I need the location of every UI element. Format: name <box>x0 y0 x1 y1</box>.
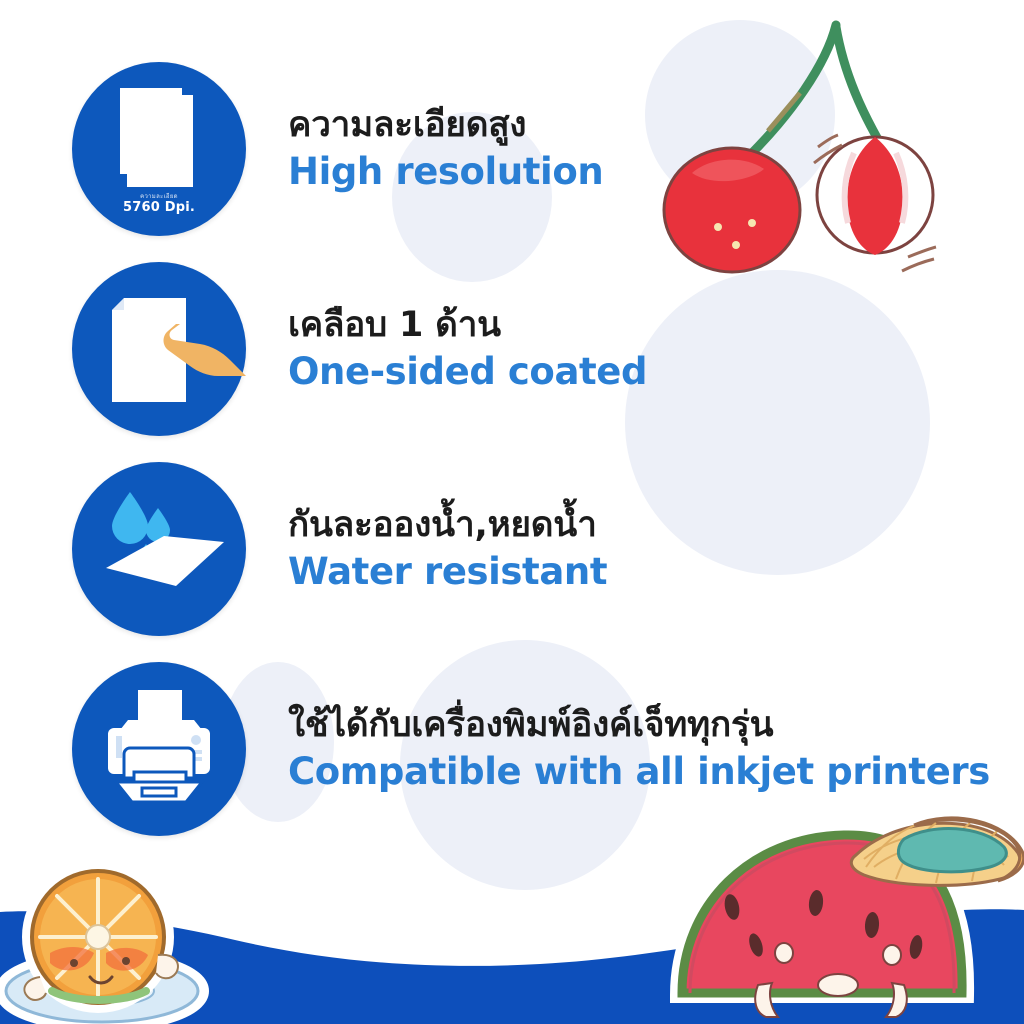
feature-title-english: One-sided coated <box>288 350 647 394</box>
feature-title-english: High resolution <box>288 150 603 194</box>
hand-touching-sheet-icon <box>72 262 246 436</box>
inkjet-printer-icon <box>72 662 246 836</box>
watermelon-illustration <box>660 795 1024 1024</box>
stacked-paper-icon: ความละเอียด 5760 Dpi. <box>72 62 246 236</box>
badge-caption-value: 5760 Dpi. <box>123 200 195 215</box>
feature-row-high-resolution: ความละเอียด 5760 Dpi. ความละเอียดสูง Hig… <box>72 62 603 236</box>
badge-caption-small: ความละเอียด <box>72 194 246 200</box>
water-droplets-on-sheet-icon <box>72 462 246 636</box>
feature-title-thai: กันละอองน้ำ,หยดน้ำ <box>288 505 607 546</box>
feature-title-english: Compatible with all inkjet printers <box>288 750 990 794</box>
badge-caption: ความละเอียด 5760 Dpi. <box>72 194 246 214</box>
feature-row-one-sided-coated: เคลือบ 1 ด้าน One-sided coated <box>72 262 647 436</box>
feature-title-thai: เคลือบ 1 ด้าน <box>288 305 647 346</box>
feature-title-english: Water resistant <box>288 550 607 594</box>
product-feature-poster: ความละเอียด 5760 Dpi. ความละเอียดสูง Hig… <box>0 0 1024 1024</box>
feature-labels: เคลือบ 1 ด้าน One-sided coated <box>288 305 647 394</box>
feature-row-water-resistant: กันละอองน้ำ,หยดน้ำ Water resistant <box>72 462 607 636</box>
feature-labels: ใช้ได้กับเครื่องพิมพ์อิงค์เจ็ททุกรุ่น Co… <box>288 705 990 794</box>
feature-title-thai: ใช้ได้กับเครื่องพิมพ์อิงค์เจ็ททุกรุ่น <box>288 705 990 746</box>
feature-labels: ความละเอียดสูง High resolution <box>288 105 603 194</box>
feature-title-thai: ความละเอียดสูง <box>288 105 603 146</box>
orange-slice-illustration <box>0 845 225 1024</box>
feature-labels: กันละอองน้ำ,หยดน้ำ Water resistant <box>288 505 607 594</box>
